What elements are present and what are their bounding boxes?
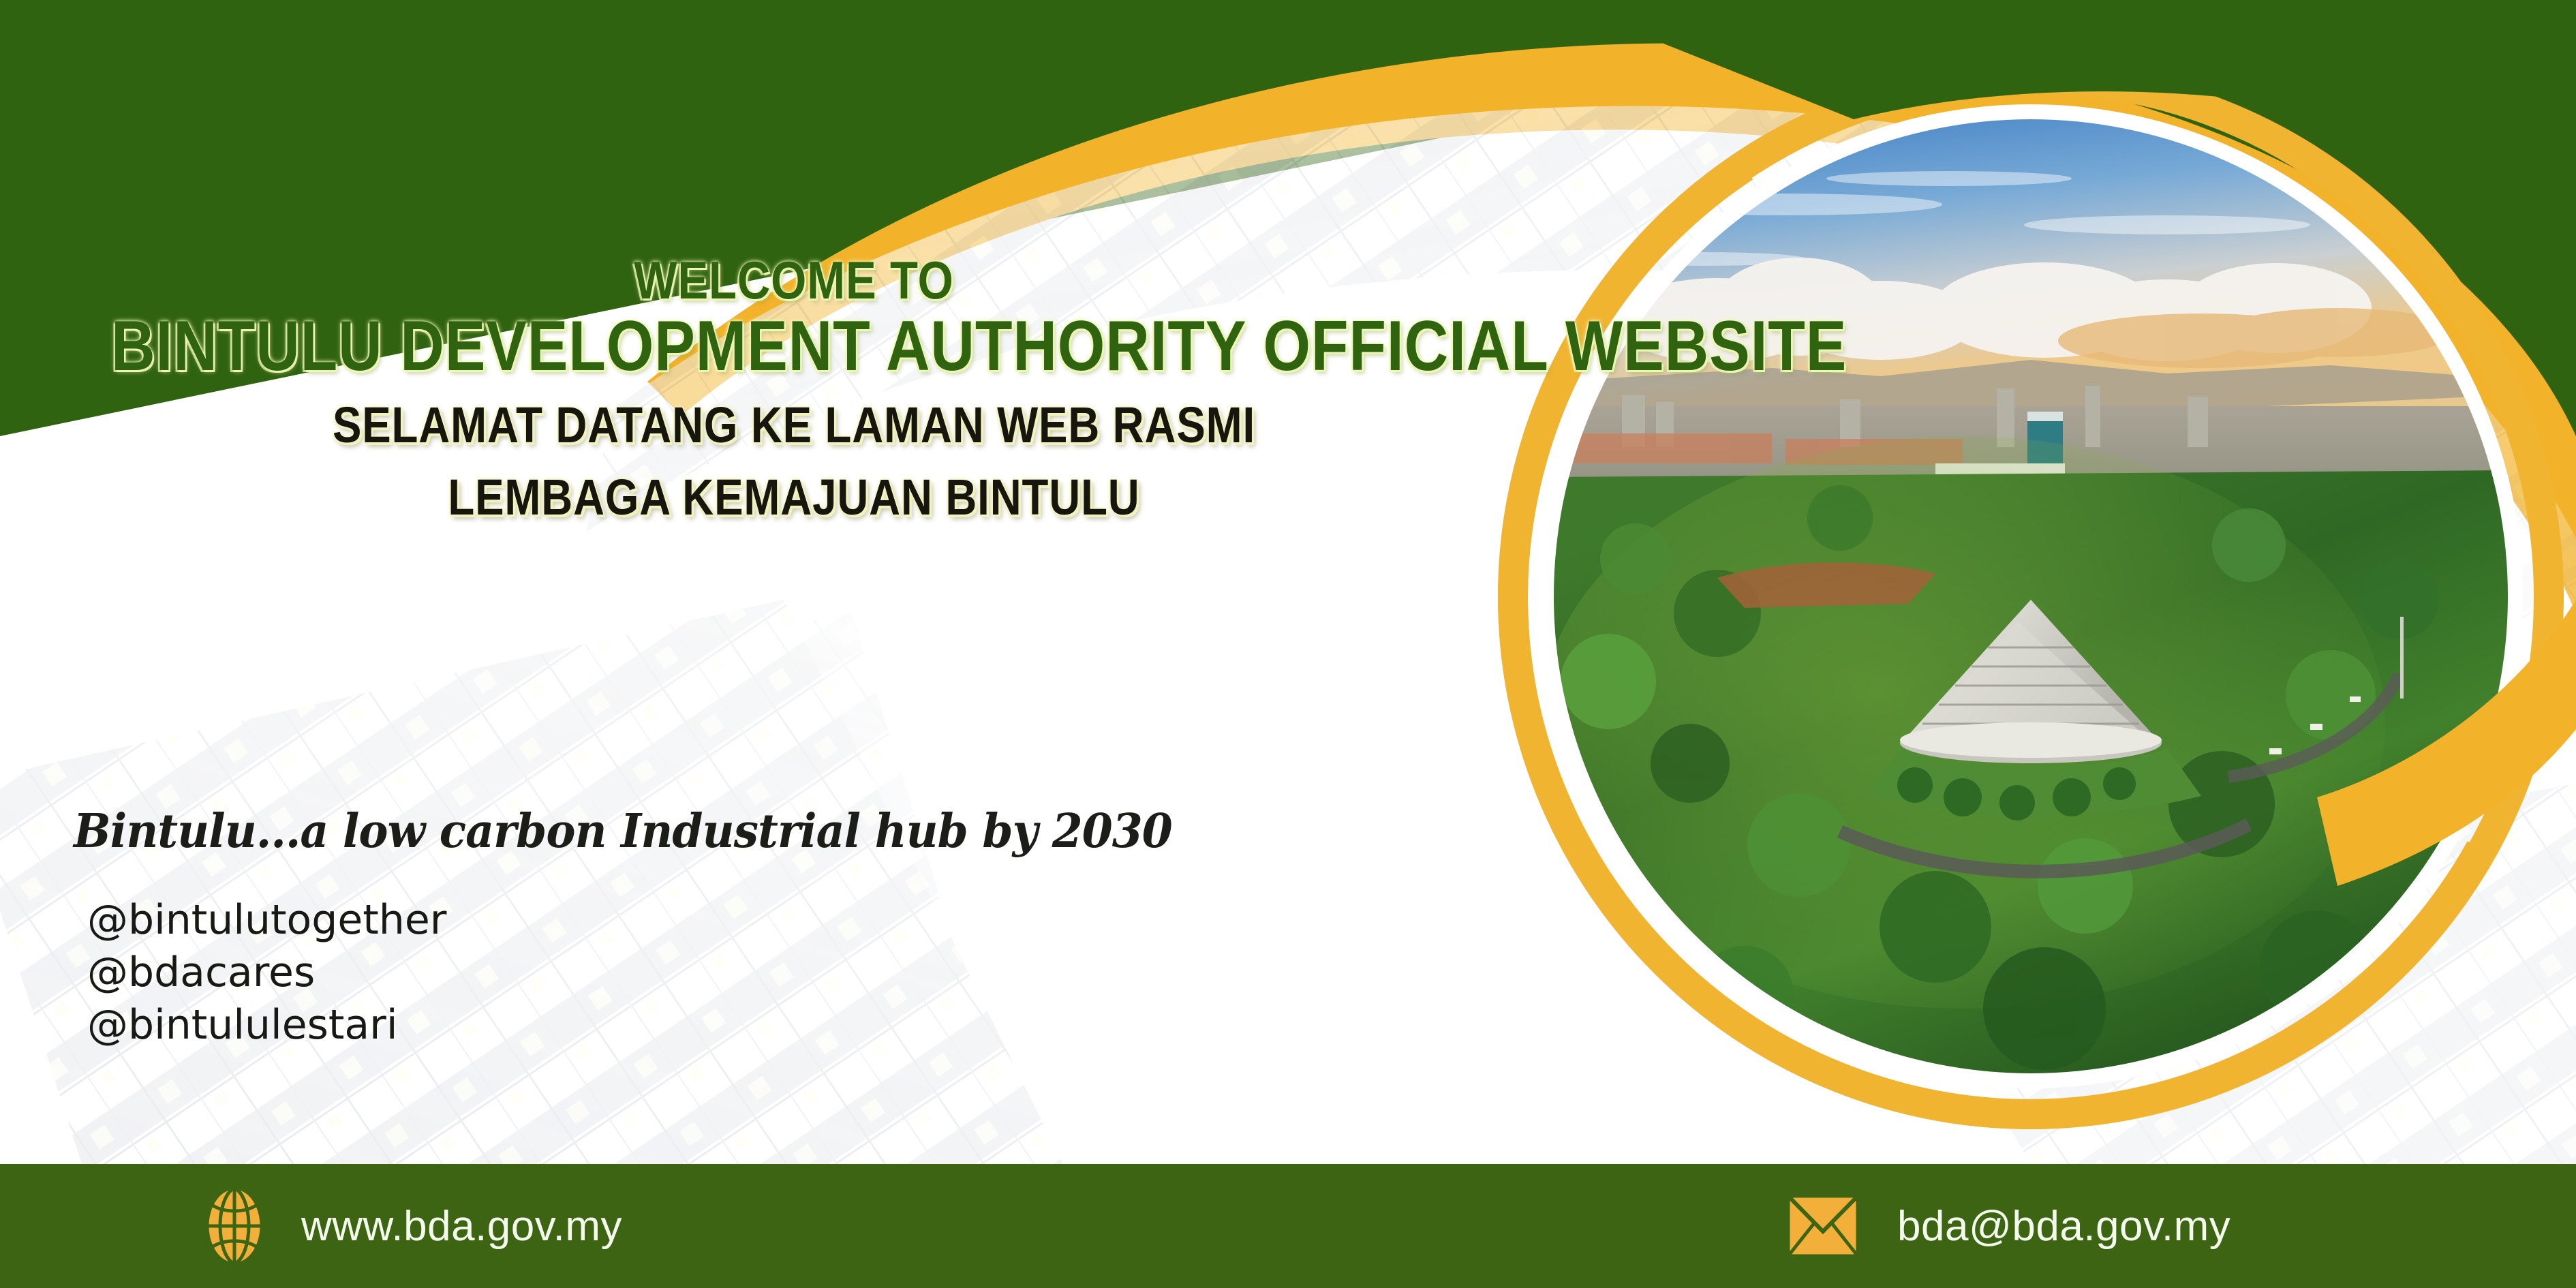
headline-block: WELCOME TO BINTULU DEVELOPMENT AUTHORITY… [0, 252, 1588, 525]
headline-lembaga: LEMBAGA KEMAJUAN BINTULU [111, 471, 1477, 524]
headline-authority: BINTULU DEVELOPMENT AUTHORITY OFFICIAL W… [111, 309, 1477, 384]
envelope-icon [1785, 1193, 1860, 1259]
website-label: www.bda.gov.my [301, 1202, 622, 1251]
handle-bintululestari[interactable]: @bintululestari [87, 1003, 446, 1047]
headline-selamat: SELAMAT DATANG KE LAMAN WEB RASMI [111, 399, 1477, 452]
email-label: bda@bda.gov.my [1897, 1202, 2230, 1251]
bda-welcome-banner: WELCOME TO BINTULU DEVELOPMENT AUTHORITY… [0, 0, 2576, 1288]
background-artwork [0, 0, 2576, 1288]
handle-bdacares[interactable]: @bdacares [87, 951, 446, 995]
footer-bar: www.bda.gov.my bda@bda.gov.my [0, 1164, 2576, 1288]
social-handles: @bintulutogether @bdacares @bintululesta… [87, 898, 446, 1047]
footer-email[interactable]: bda@bda.gov.my [1785, 1193, 2230, 1259]
headline-welcome: WELCOME TO [111, 252, 1477, 309]
footer-website[interactable]: www.bda.gov.my [204, 1186, 622, 1266]
handle-bintulutogether[interactable]: @bintulutogether [87, 898, 446, 942]
globe-icon [204, 1186, 264, 1266]
tagline: Bintulu...a low carbon Industrial hub by… [74, 804, 1172, 859]
